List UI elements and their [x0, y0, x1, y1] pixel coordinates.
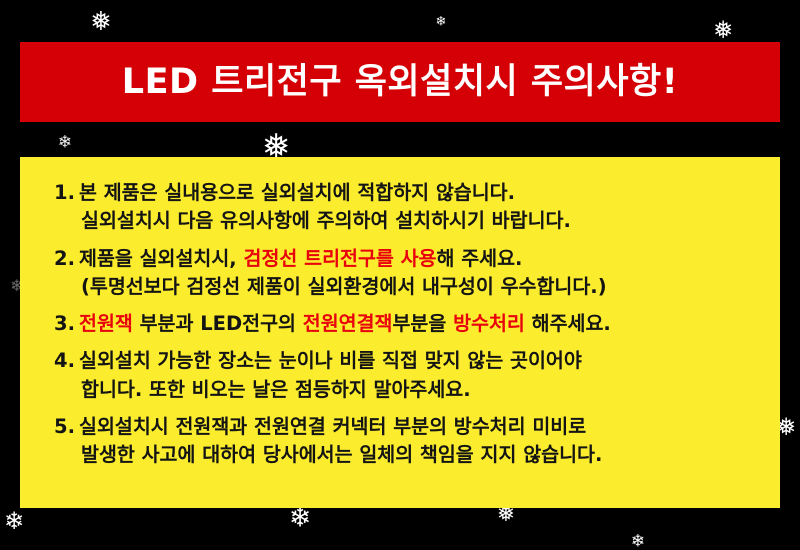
notice-item-line: 실외설치시 다음 유의사항에 주의하여 설치하시기 바랍니다.	[79, 207, 754, 235]
snowflake-icon: ❅	[713, 18, 733, 42]
notice-item-line: 실외설치 가능한 장소는 눈이나 비를 직접 맞지 않는 곳이어야	[79, 347, 754, 375]
plain-text: 발생한 사고에 대하여 당사에서는 일체의 책임을 지지 않습니다.	[81, 443, 602, 466]
plain-text: (투명선보다 검정선 제품이 실외환경에서 내구성이 우수합니다.)	[81, 275, 607, 298]
plain-text: 부분과 LED전구의	[133, 312, 303, 335]
notice-item-text: 실외설치 가능한 장소는 눈이나 비를 직접 맞지 않는 곳이어야합니다. 또한…	[79, 347, 754, 404]
notice-item-number: 5.	[54, 413, 79, 441]
notice-item-number: 1.	[54, 179, 79, 207]
poster-root: ❅❄❅❄❅❄❅❄❅❄❄ LED 트리전구 옥외설치시 주의사항! 1.본 제품은…	[0, 0, 800, 550]
highlighted-text: 검정선 트리전구를 사용	[244, 247, 437, 270]
notice-item: 2.제품을 실외설치시, 검정선 트리전구를 사용해 주세요.(투명선보다 검정…	[54, 245, 754, 302]
highlighted-text: 방수처리	[453, 312, 525, 335]
notice-item: 5.실외설치시 전원잭과 전원연결 커넥터 부분의 방수처리 미비로발생한 사고…	[54, 413, 754, 470]
notice-item-number: 4.	[54, 347, 79, 375]
notice-item-line: 실외설치시 전원잭과 전원연결 커넥터 부분의 방수처리 미비로	[79, 413, 754, 441]
notice-item: 3.전원잭 부분과 LED전구의 전원연결잭부분을 방수처리 해주세요.	[54, 310, 754, 338]
notice-item-line: (투명선보다 검정선 제품이 실외환경에서 내구성이 우수합니다.)	[79, 273, 754, 301]
highlighted-text: 전원연결잭	[303, 312, 393, 335]
notice-list: 1.본 제품은 실내용으로 실외설치에 적합하지 않습니다.실외설치시 다음 유…	[20, 157, 780, 508]
notice-item-text: 전원잭 부분과 LED전구의 전원연결잭부분을 방수처리 해주세요.	[79, 310, 754, 338]
plain-text: 부분을	[392, 312, 453, 335]
snowflake-icon: ❄	[58, 135, 72, 152]
notice-item-text: 제품을 실외설치시, 검정선 트리전구를 사용해 주세요.(투명선보다 검정선 …	[79, 245, 754, 302]
plain-text: 합니다. 또한 비오는 날은 점등하지 말아주세요.	[81, 378, 471, 401]
page-title: LED 트리전구 옥외설치시 주의사항!	[122, 65, 678, 100]
notice-item-text: 본 제품은 실내용으로 실외설치에 적합하지 않습니다.실외설치시 다음 유의사…	[79, 179, 754, 236]
title-banner: LED 트리전구 옥외설치시 주의사항!	[20, 42, 780, 122]
snowflake-icon: ❅	[90, 9, 112, 35]
plain-text: 본 제품은 실내용으로 실외설치에 적합하지 않습니다.	[79, 181, 515, 204]
snowflake-icon: ❄	[289, 505, 312, 532]
highlighted-text: 전원잭	[79, 312, 133, 335]
notice-item-line: 합니다. 또한 비오는 날은 점등하지 말아주세요.	[79, 376, 754, 404]
plain-text: 제품을 실외설치시,	[79, 247, 244, 270]
plain-text: 실외설치 가능한 장소는 눈이나 비를 직접 맞지 않는 곳이어야	[79, 349, 582, 372]
snowflake-icon: ❄	[631, 534, 645, 550]
notice-item: 1.본 제품은 실내용으로 실외설치에 적합하지 않습니다.실외설치시 다음 유…	[54, 179, 754, 236]
notice-item: 4.실외설치 가능한 장소는 눈이나 비를 직접 맞지 않는 곳이어야합니다. …	[54, 347, 754, 404]
notice-item-number: 3.	[54, 310, 79, 338]
snowflake-icon: ❄	[4, 509, 24, 533]
notice-item-text: 실외설치시 전원잭과 전원연결 커넥터 부분의 방수처리 미비로발생한 사고에 …	[79, 413, 754, 470]
notice-item-line: 전원잭 부분과 LED전구의 전원연결잭부분을 방수처리 해주세요.	[79, 310, 754, 338]
notice-item-number: 2.	[54, 245, 79, 273]
notice-item-line: 제품을 실외설치시, 검정선 트리전구를 사용해 주세요.	[79, 245, 754, 273]
plain-text: 실외설치시 전원잭과 전원연결 커넥터 부분의 방수처리 미비로	[79, 415, 586, 438]
notice-item-line: 본 제품은 실내용으로 실외설치에 적합하지 않습니다.	[79, 179, 754, 207]
plain-text: 실외설치시 다음 유의사항에 주의하여 설치하시기 바랍니다.	[81, 209, 571, 232]
plain-text: 해주세요.	[525, 312, 611, 335]
snowflake-icon: ❄	[436, 16, 447, 29]
plain-text: 해 주세요.	[437, 247, 523, 270]
notice-item-line: 발생한 사고에 대하여 당사에서는 일체의 책임을 지지 않습니다.	[79, 441, 754, 469]
